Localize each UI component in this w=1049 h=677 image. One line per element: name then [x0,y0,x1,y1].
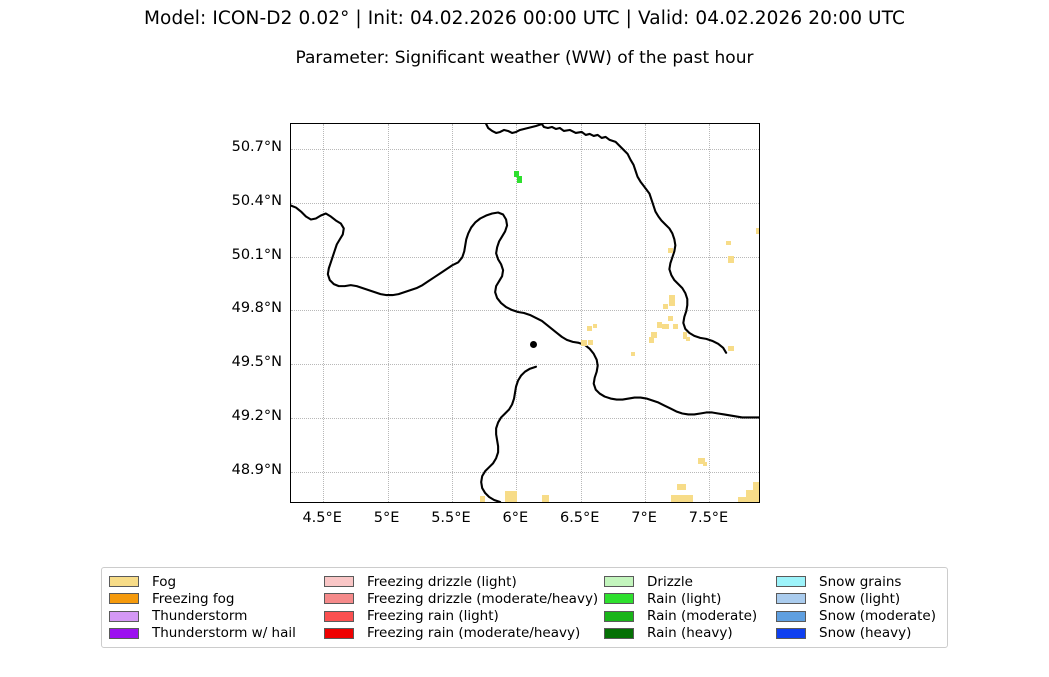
y-axis-tick-label: 50.7°N [212,139,282,155]
legend-item: Snow grains [773,573,953,590]
legend-color-swatch [324,611,354,622]
weather-cell [663,304,668,309]
legend-item: Freezing rain (moderate/heavy) [321,625,601,642]
weather-cell [686,337,690,341]
legend-item: Rain (moderate) [601,608,773,625]
weather-cell [753,482,760,502]
legend-item: Freezing rain (light) [321,608,601,625]
weather-cell [662,324,669,329]
legend-item-label: Freezing drizzle (light) [367,574,517,590]
weather-cell [738,497,746,502]
weather-map-plot [290,123,760,503]
legend-color-swatch [324,628,354,639]
weather-cell [588,340,593,345]
legend-item-label: Freezing rain (light) [367,608,499,624]
chart-title-block: Model: ICON-D2 0.02° | Init: 04.02.2026 … [0,0,1049,68]
weather-cell [668,248,673,253]
legend-items: FogFreezing fogThunderstormThunderstorm … [102,568,947,647]
legend-item: Thunderstorm [106,608,321,625]
legend-color-swatch [776,593,806,604]
legend-color-swatch [109,576,139,587]
legend-item: Freezing fog [106,590,321,607]
legend-color-swatch [776,611,806,622]
y-axis-labels: 50.7°N50.4°N50.1°N49.8°N49.5°N49.2°N48.9… [212,123,282,503]
legend-item-label: Snow (moderate) [819,608,936,624]
legend-item-label: Snow (heavy) [819,625,911,641]
x-axis-labels: 4.5°E5°E5.5°E6°E6.5°E7°E7.5°E [290,510,760,532]
legend-color-swatch [604,576,634,587]
weather-cell [668,316,673,321]
weather-cell [480,496,485,502]
x-axis-tick-label: 7.5°E [663,510,753,526]
legend-item: Rain (heavy) [601,625,773,642]
legend-item-label: Rain (heavy) [647,625,733,641]
legend-item-label: Rain (light) [647,591,721,607]
legend-item-label: Snow grains [819,574,901,590]
weather-cell [542,495,549,502]
legend-color-swatch [776,576,806,587]
weather-cell [703,462,707,466]
legend-item-label: Snow (light) [819,591,900,607]
legend-color-swatch [109,628,139,639]
weather-cell [649,337,654,343]
legend-item: Snow (heavy) [773,625,953,642]
legend-box: FogFreezing fogThunderstormThunderstorm … [101,567,948,648]
weather-cell [505,491,517,502]
y-axis-tick-label: 49.2°N [212,408,282,424]
legend-color-swatch [324,576,354,587]
legend-color-swatch [109,611,139,622]
weather-cell [671,495,693,502]
legend-color-swatch [109,593,139,604]
legend-item: Thunderstorm w/ hail [106,625,321,642]
legend-item-label: Freezing rain (moderate/heavy) [367,625,580,641]
legend-item-label: Freezing drizzle (moderate/heavy) [367,591,598,607]
weather-cell [517,176,522,183]
legend-item-label: Thunderstorm [152,608,247,624]
legend-color-swatch [604,593,634,604]
legend-color-swatch [324,593,354,604]
legend-color-swatch [604,628,634,639]
y-axis-tick-label: 48.9°N [212,462,282,478]
legend-item-label: Fog [152,574,176,590]
legend-item-label: Freezing fog [152,591,234,607]
weather-cell [587,326,592,331]
weather-cell [728,256,734,263]
chart-subtitle: Parameter: Significant weather (WW) of t… [0,48,1049,68]
legend-color-swatch [776,628,806,639]
weather-cells-layer [291,124,759,502]
legend-item: Snow (moderate) [773,608,953,625]
legend-item: Rain (light) [601,590,773,607]
weather-cell [593,324,597,328]
legend-item: Snow (light) [773,590,953,607]
weather-cell [631,352,635,356]
legend-item-label: Thunderstorm w/ hail [152,625,296,641]
legend-item-label: Rain (moderate) [647,608,757,624]
weather-cell [677,484,686,490]
weather-cell [728,346,734,351]
y-axis-tick-label: 49.8°N [212,300,282,316]
legend-item: Fog [106,573,321,590]
legend-item: Freezing drizzle (light) [321,573,601,590]
weather-cell [581,340,587,346]
weather-cell [669,295,675,306]
legend-item: Drizzle [601,573,773,590]
weather-cell [673,324,678,329]
city-marker [530,341,537,348]
y-axis-tick-label: 49.5°N [212,354,282,370]
legend-color-swatch [604,611,634,622]
y-axis-tick-label: 50.4°N [212,193,282,209]
page-title: Model: ICON-D2 0.02° | Init: 04.02.2026 … [0,8,1049,29]
legend-item-label: Drizzle [647,574,693,590]
weather-cell [726,241,731,245]
legend-item: Freezing drizzle (moderate/heavy) [321,590,601,607]
y-axis-tick-label: 50.1°N [212,247,282,263]
weather-cell [756,228,760,234]
